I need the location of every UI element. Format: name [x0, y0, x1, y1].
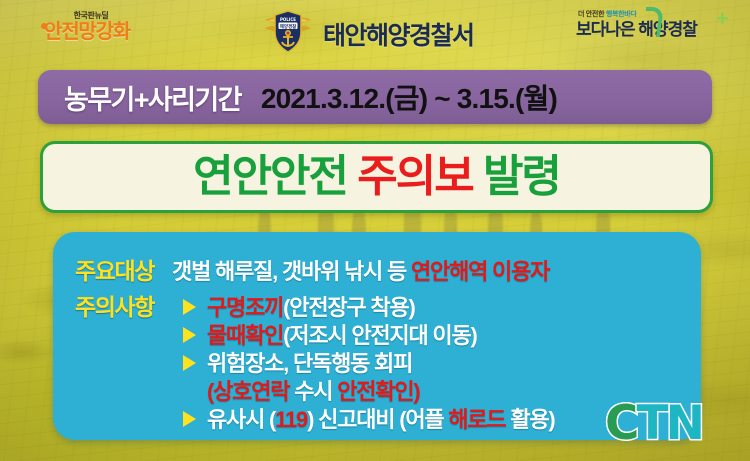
logo-better-coast-guard: 더 안전한 행복한바다 보다나은 해양경찰 +: [576, 11, 697, 39]
logo-right-main: 보다나은 해양경찰: [576, 20, 697, 39]
korea-coast-guard-emblem-icon: POLICE 해양경찰: [262, 6, 314, 56]
date-banner: 농무기+사리기간 2021.3.12.(금) ~ 3.15.(월): [38, 70, 712, 124]
svg-text:POLICE: POLICE: [280, 17, 296, 22]
target-label: 주요대상: [75, 252, 154, 286]
main-title-part3: 발령: [483, 152, 560, 201]
green-plus-icon: +: [716, 8, 729, 30]
ctn-letter-n: N: [666, 396, 702, 451]
info-panel: 주요대상 갯벌 해루질, 갯바위 낚시 등 연안해역 이용자 주의사항 구명조끼…: [53, 232, 701, 440]
orange-dot-icon: [41, 23, 47, 29]
bullet-triangle-icon: [183, 411, 196, 427]
caution-item-5-text: 유사시 (119) 신고대비 (어플 해로드 활용): [207, 402, 555, 434]
main-title-part2: 주의보: [357, 152, 472, 201]
main-title-part1: 연안안전: [193, 152, 347, 201]
target-text: 갯벌 해루질, 갯바위 낚시 등 연안해역 이용자: [172, 254, 549, 286]
logo-korean-new-deal: 한국판뉴딜 안전망강화: [44, 12, 130, 42]
bullet-triangle-icon: [183, 299, 196, 315]
info-row-target: 주요대상 갯벌 해루질, 갯바위 낚시 등 연안해역 이용자: [75, 252, 549, 286]
bullet-triangle-icon: [183, 327, 196, 343]
ctn-letter-c: C: [605, 396, 637, 451]
logo-left-main: 안전망강화: [44, 22, 130, 42]
main-title: 연안안전 주의보 발령: [193, 155, 560, 199]
main-title-box: 연안안전 주의보 발령: [40, 141, 713, 213]
date-banner-label: 농무기+사리기간: [64, 78, 241, 117]
caution-item-5: 유사시 (119) 신고대비 (어플 해로드 활용): [183, 402, 555, 434]
logo-right-superscript: 더 안전한 행복한바다: [578, 11, 697, 18]
header-bar: 한국판뉴딜 안전망강화 POLICE 해양경찰: [0, 0, 750, 62]
poster-root: 한국판뉴딜 안전망강화 POLICE 해양경찰: [0, 0, 750, 461]
bullet-triangle-icon: [183, 355, 196, 371]
cautions-label: 주의사항: [75, 288, 154, 322]
date-banner-value: 2021.3.12.(금) ~ 3.15.(월): [261, 77, 557, 117]
ctn-watermark-logo: CTN: [605, 400, 702, 447]
ctn-letter-t: T: [637, 396, 666, 451]
logo-left-superscript: 한국판뉴딜: [52, 12, 130, 20]
station-name: 태안해양경찰서: [323, 16, 474, 52]
info-row-cautions-label: 주의사항: [75, 288, 154, 322]
